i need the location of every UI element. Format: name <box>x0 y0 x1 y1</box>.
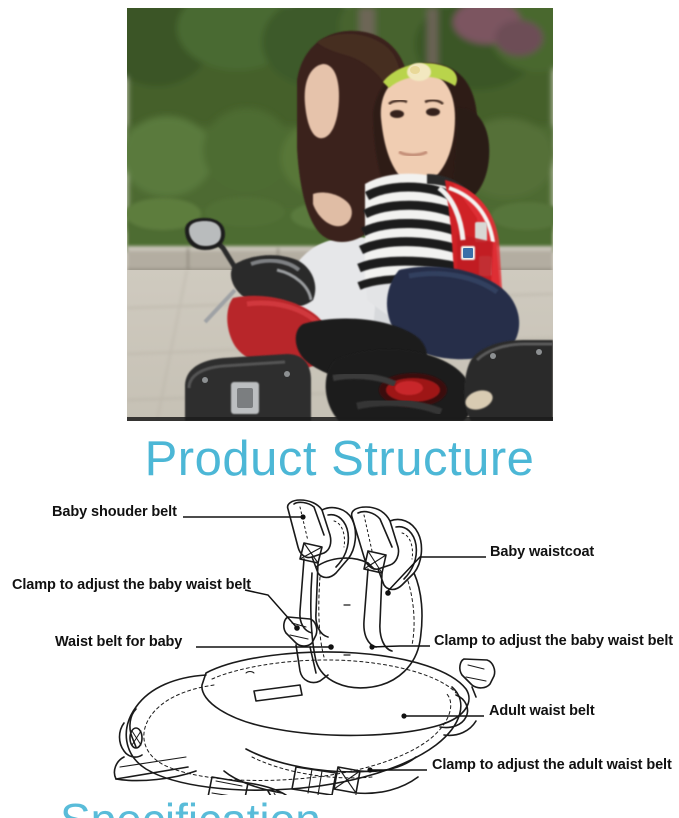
label-baby-shoulder-belt: Baby shouder belt <box>52 504 177 521</box>
label-clamp-baby-waist-belt-left: Clamp to adjust the baby waist belt <box>12 577 251 594</box>
next-section-heading-text: Specification <box>60 793 321 818</box>
label-adult-waist-belt: Adult waist belt <box>489 703 595 720</box>
photo-illustration <box>127 8 553 421</box>
page-title: Product Structure <box>0 430 679 488</box>
product-lifestyle-photo <box>127 8 553 421</box>
label-clamp-adult-waist-belt: Clamp to adjust the adult waist belt <box>432 757 672 774</box>
label-waist-belt-for-baby: Waist belt for baby <box>55 634 182 651</box>
product-detail-page: Product Structure <box>0 0 679 818</box>
next-section-heading: Specification <box>0 793 679 818</box>
label-baby-waistcoat: Baby waistcoat <box>490 544 594 561</box>
product-structure-diagram: Baby shouder belt Clamp to adjust the ba… <box>0 495 679 795</box>
label-clamp-baby-waist-belt-right: Clamp to adjust the baby waist belt <box>434 633 673 650</box>
